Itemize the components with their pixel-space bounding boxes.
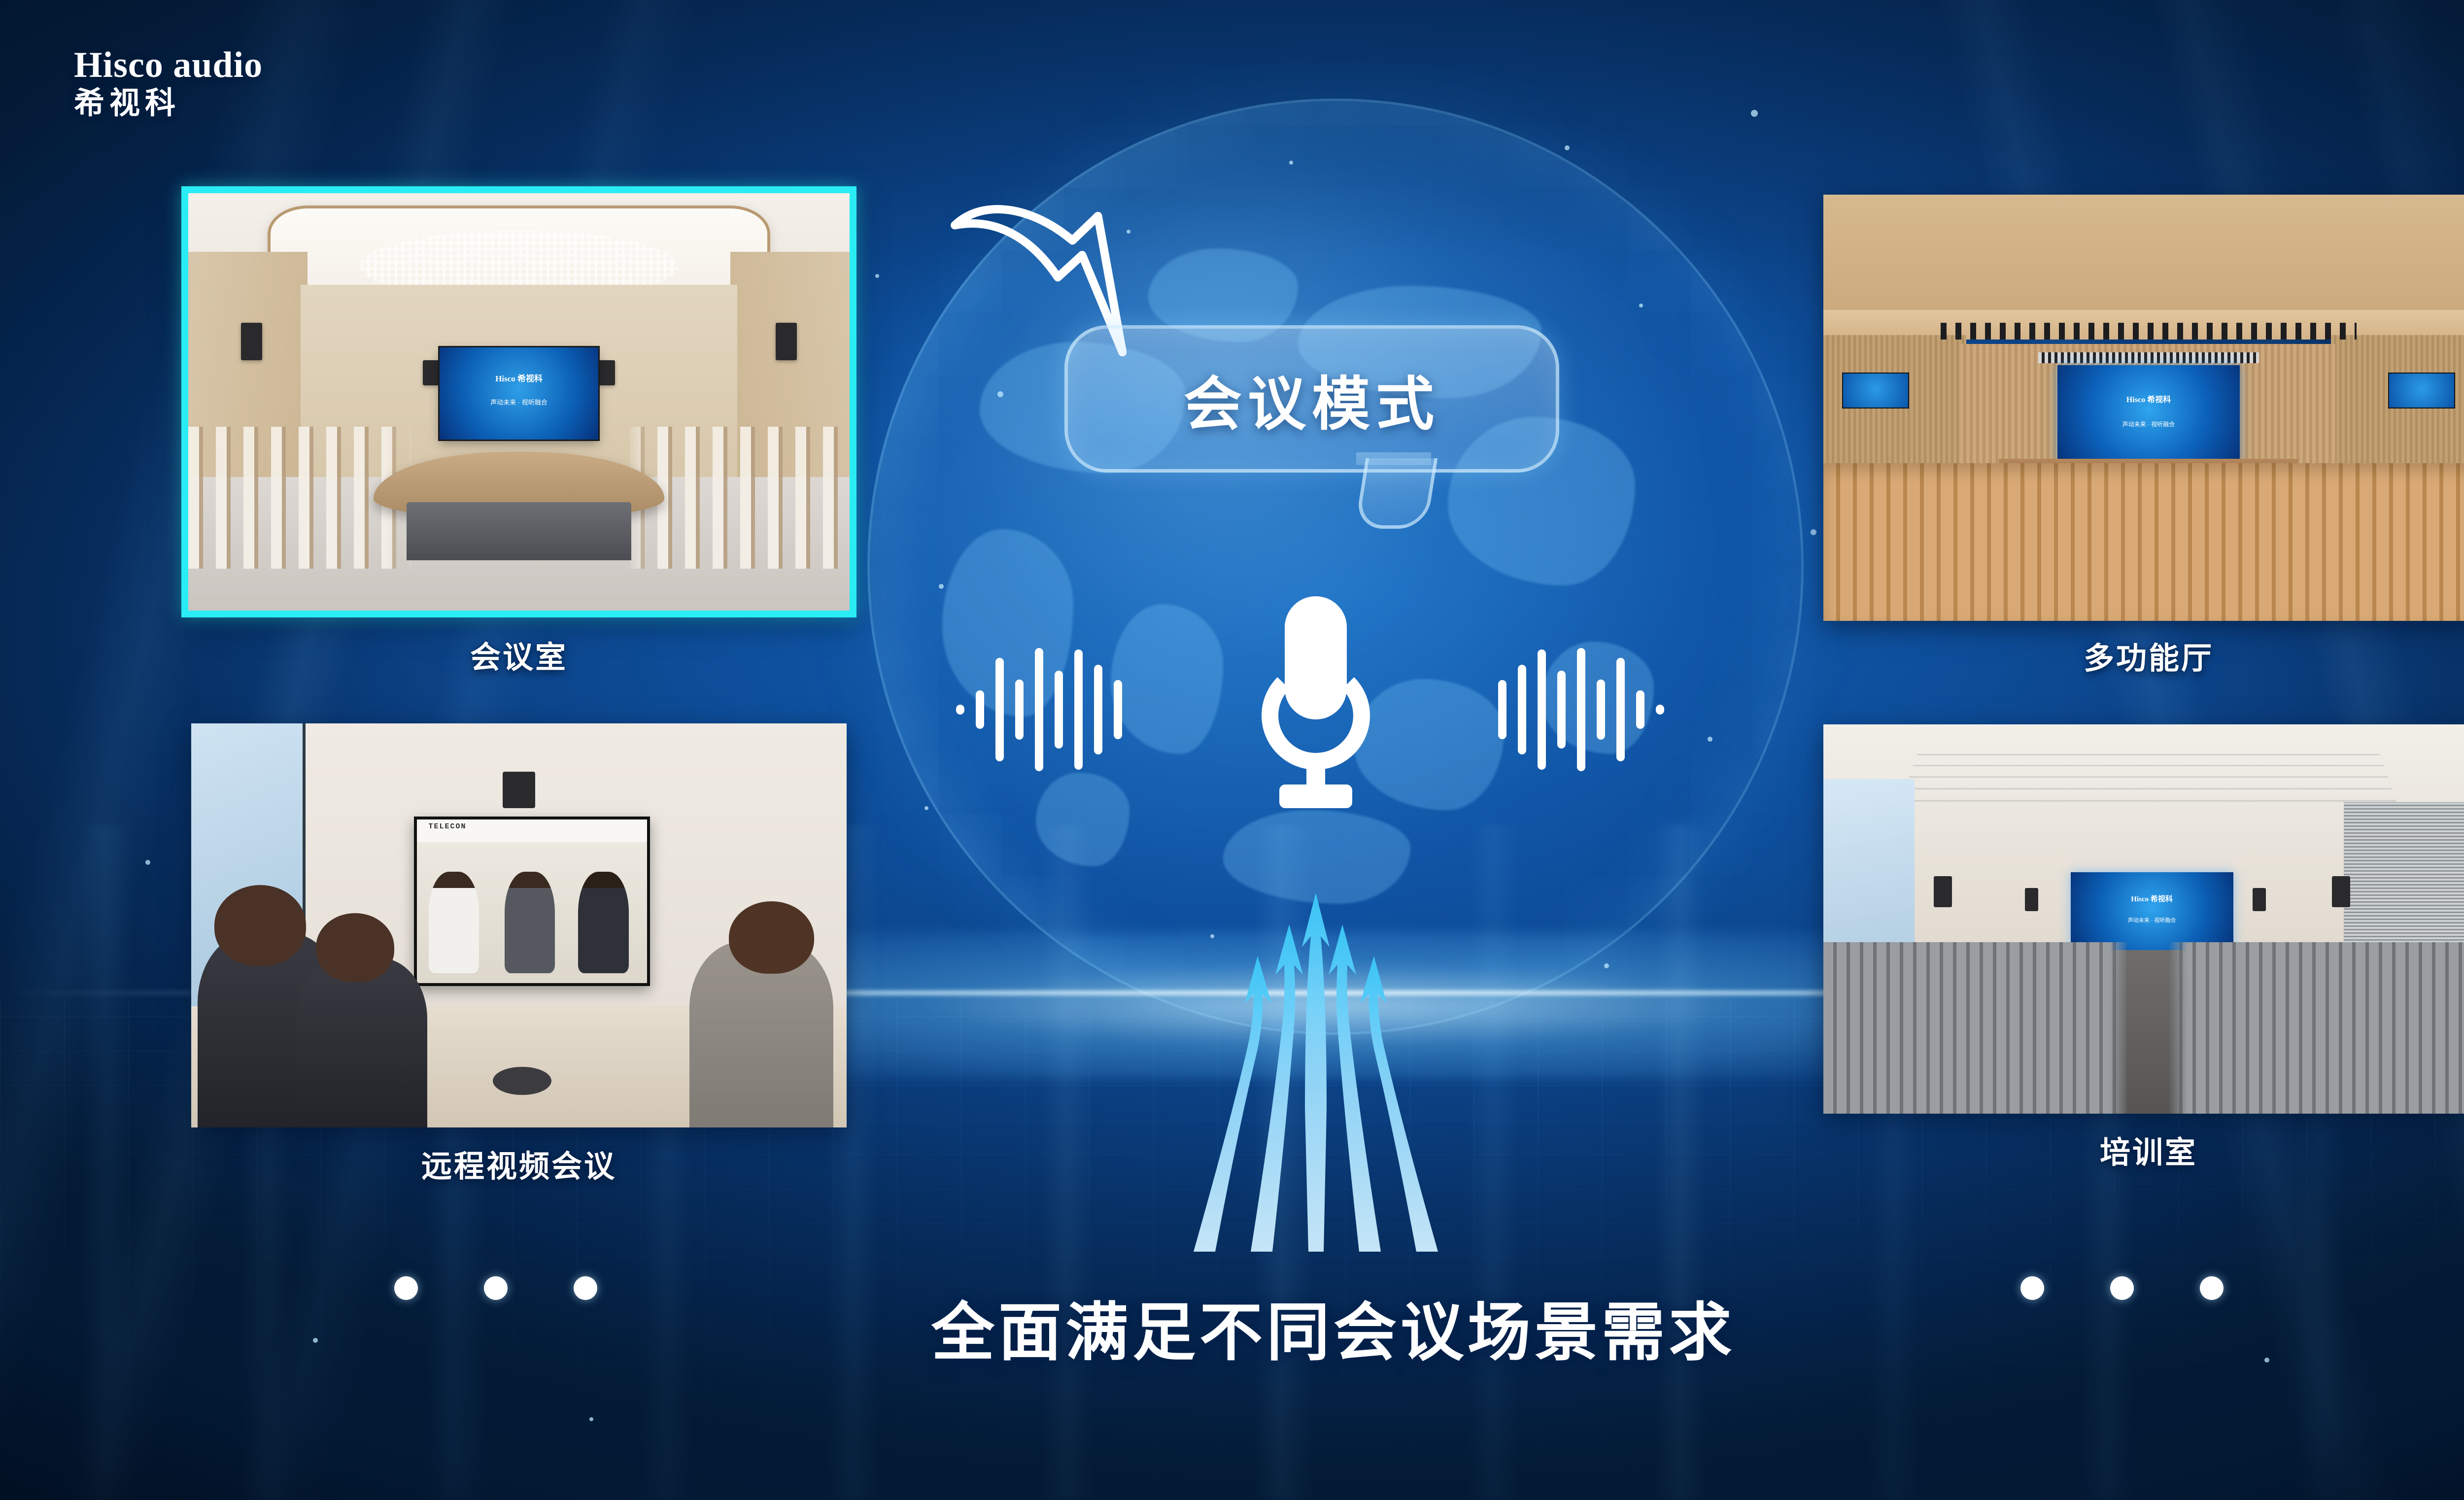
photo-frame: TELECON [191,723,847,1127]
stage-led-display: Hisco 希视科 声动未来 · 视听融合 [2057,365,2240,463]
brand-name-en: Hisco audio [74,47,263,83]
card-caption: 远程视频会议 [191,1141,847,1186]
meeting-mode-bubble[interactable]: 会议模式 [1064,325,1559,473]
photo-frame: Hisco 希视科 声动未来 · 视听融合 [181,186,856,617]
video-call-display: TELECON [414,817,650,986]
display-line-2: 声动未来 · 视听融合 [2057,420,2240,428]
card-caption: 会议室 [181,632,856,677]
photo-card-training-room[interactable]: Hisco 希视科 声动未来 · 视听融合 培训室 [1823,724,2464,1114]
brand-name-cn: 希视科 [74,88,263,119]
photo-frame: Hisco 希视科 声动未来 · 视听融合 [1823,724,2464,1114]
room-display: Hisco 希视科 声动未来 · 视听融合 [440,347,598,439]
bubble-tail-mask [1356,452,1431,465]
photo-card-multifunction-hall[interactable]: Hisco 希视科 声动未来 · 视听融合 多功能厅 [1823,195,2464,621]
page-headline: 全面满足不同会议场景需求 [0,1281,2464,1372]
microphone-icon [1262,596,1370,808]
training-room-photo: Hisco 希视科 声动未来 · 视听融合 [1823,724,2464,1114]
photo-card-remote-video-conference[interactable]: TELECON 远程视频会议 [191,723,847,1127]
poster-canvas: Hisco audio 希视科 Hisco 希视科 声动未来 · 视听融合 [0,0,2464,1500]
display-line-1: Hisco 希视科 [440,372,598,384]
audio-waveform-icon-right [1498,641,1664,779]
audio-waveform-icon-left [956,641,1122,779]
multifunction-hall-photo: Hisco 希视科 声动未来 · 视听融合 [1823,195,2464,621]
display-line-1: Hisco 希视科 [2071,893,2233,904]
conference-room-photo: Hisco 希视科 声动未来 · 视听融合 [188,193,850,611]
video-call-brand: TELECON [429,822,467,831]
card-caption: 多功能厅 [1823,633,2464,678]
remote-video-conference-photo: TELECON [191,723,847,1127]
room-display: Hisco 希视科 声动未来 · 视听融合 [2071,872,2233,950]
display-line-2: 声动未来 · 视听融合 [440,397,598,407]
display-line-2: 声动未来 · 视听融合 [2071,916,2233,924]
brand-logo: Hisco audio 希视科 [74,47,263,119]
photo-card-conference-room[interactable]: Hisco 希视科 声动未来 · 视听融合 会议室 [181,186,856,617]
meeting-mode-label: 会议模式 [1184,357,1440,441]
photo-frame: Hisco 希视科 声动未来 · 视听融合 [1823,195,2464,621]
card-caption: 培训室 [1823,1127,2464,1172]
rising-arrows-icon [1148,877,1483,1252]
display-line-1: Hisco 希视科 [2057,393,2240,405]
